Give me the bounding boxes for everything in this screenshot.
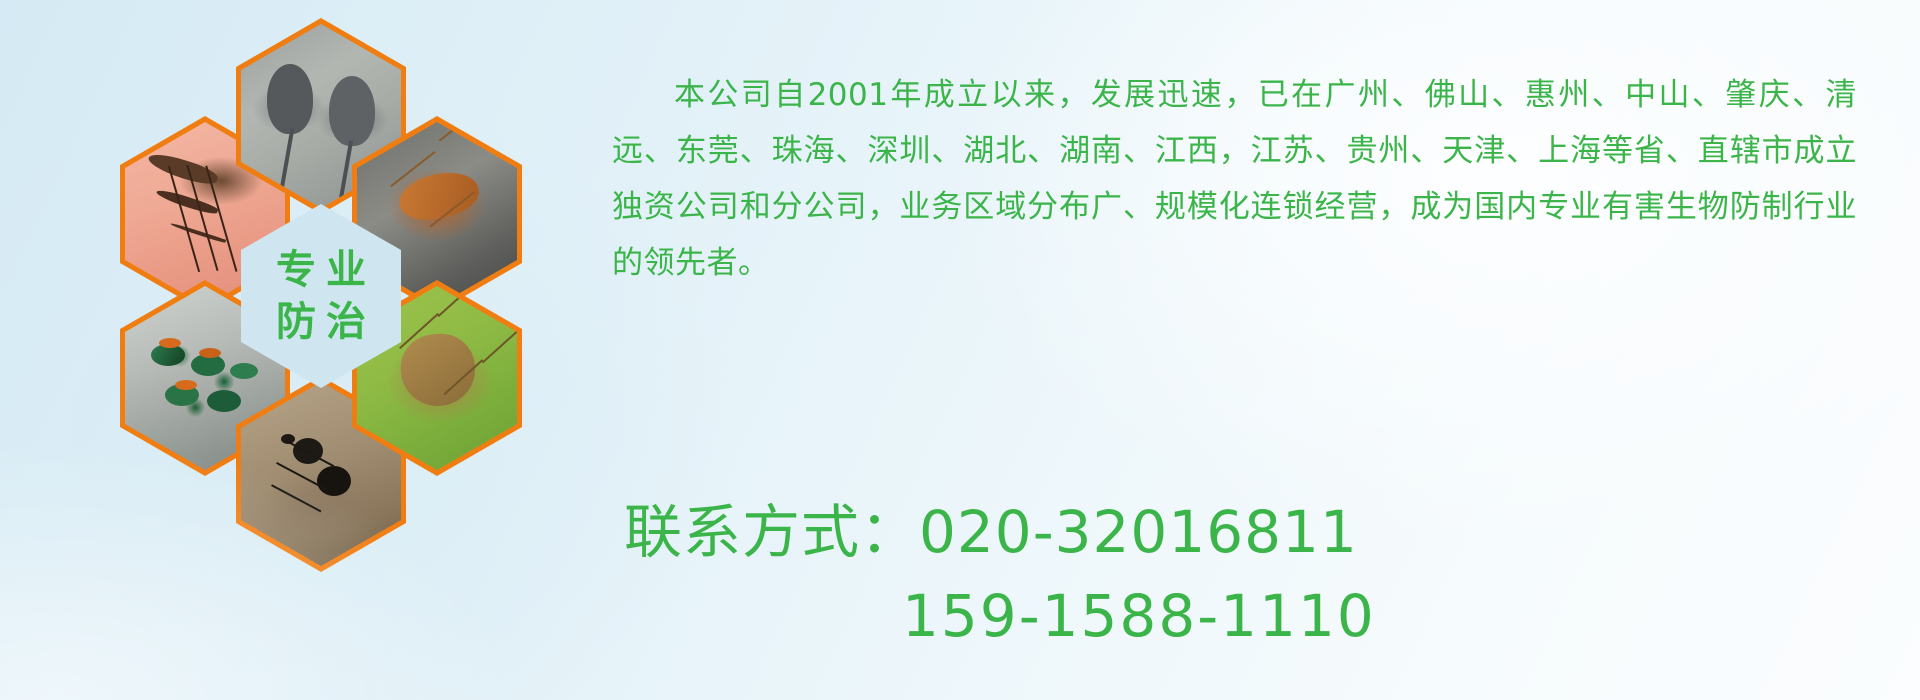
contact-phone-secondary-line[interactable]: 159-1588-1110 xyxy=(612,574,1902,658)
logo-text-panel: 专业 防治 xyxy=(241,204,401,388)
contact-phone-primary-line[interactable]: 联系方式：020-32016811 xyxy=(612,490,1902,574)
promo-banner: 专业 防治 本公司自2001年成立以来，发展迅速，已在广州、佛山、惠州、中山、肇… xyxy=(0,0,1920,700)
logo-text-line-2: 防治 xyxy=(266,299,376,345)
intro-copy-block: 本公司自2001年成立以来，发展迅速，已在广州、佛山、惠州、中山、肇庆、清远、东… xyxy=(612,36,1892,322)
intro-paragraph: 本公司自2001年成立以来，发展迅速，已在广州、佛山、惠州、中山、肇庆、清远、东… xyxy=(612,67,1857,291)
contact-block: 联系方式：020-32016811 159-1588-1110 xyxy=(612,490,1902,658)
logo-text-line-1: 专业 xyxy=(266,247,376,293)
honeycomb-logo-cluster: 专业 防治 xyxy=(88,8,608,578)
